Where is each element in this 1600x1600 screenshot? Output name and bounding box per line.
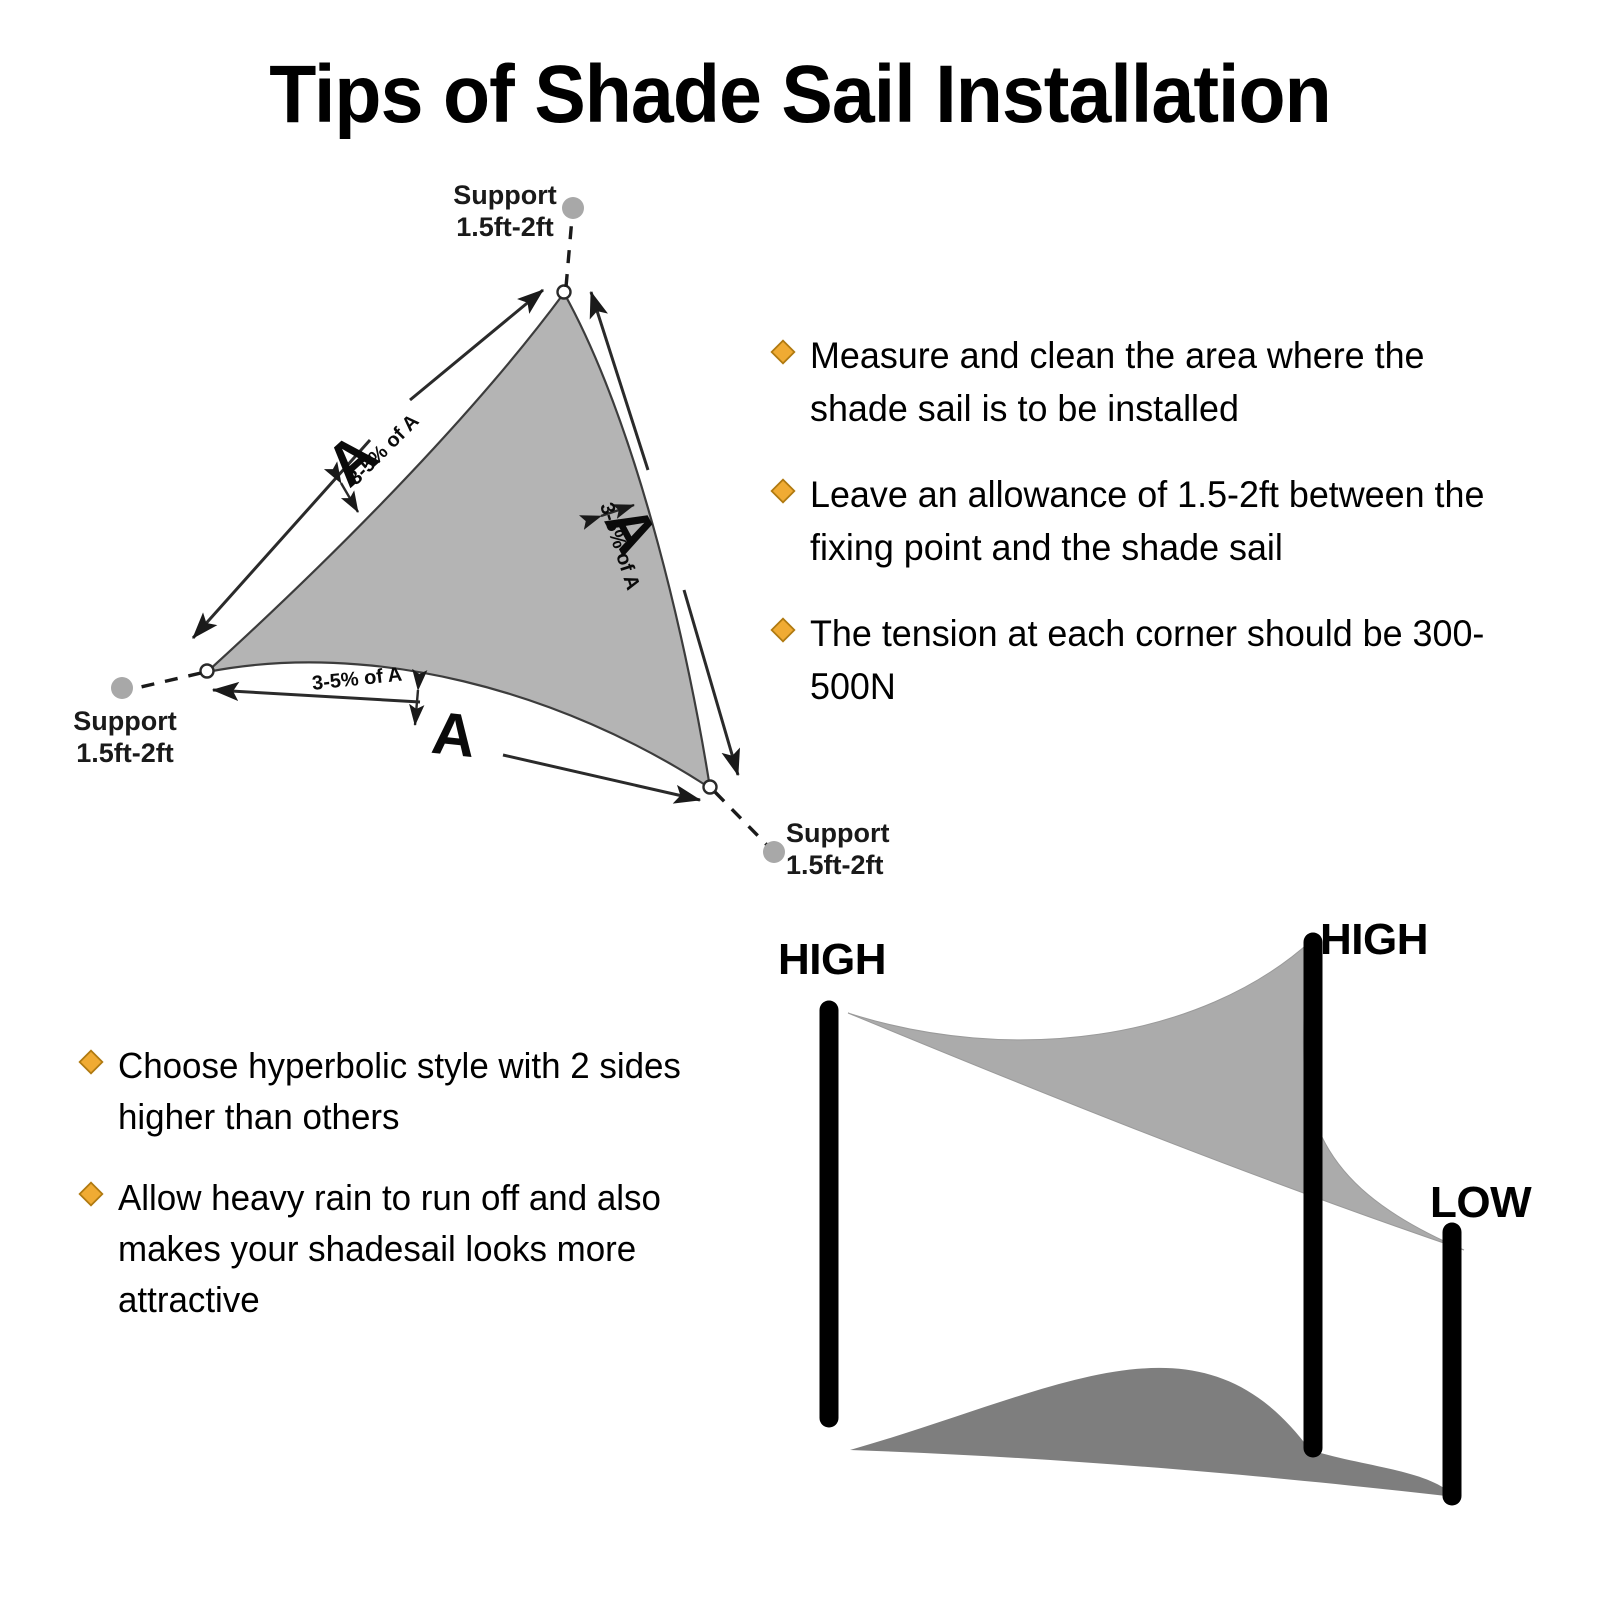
diamond-bullet-icon	[770, 339, 796, 365]
diamond-bullet-icon	[78, 1181, 104, 1207]
support-dot-left	[111, 677, 133, 699]
list-item: Allow heavy rain to run off and also mak…	[78, 1172, 778, 1325]
list-item-text: Choose hyperbolic style with 2 sides hig…	[118, 1040, 758, 1142]
dim-bottom-tol	[415, 690, 418, 725]
list-item: The tension at each corner should be 300…	[770, 608, 1510, 713]
diamond-bullet-icon	[770, 478, 796, 504]
tips-list-bottom: Choose hyperbolic style with 2 sides hig…	[78, 1040, 778, 1356]
sail-shadow	[850, 1368, 1455, 1497]
page-title: Tips of Shade Sail Installation	[48, 52, 1552, 138]
corner-ring-bottom-right	[704, 781, 717, 794]
tips-list-top: Measure and clean the area where the sha…	[770, 330, 1510, 747]
corner-ring-top	[558, 286, 571, 299]
side-tolerance-bottom: 3-5% of A	[311, 664, 403, 696]
diamond-bullet-icon	[78, 1049, 104, 1075]
list-item-text: Measure and clean the area where the sha…	[810, 330, 1489, 435]
dim-right-A2	[684, 590, 738, 775]
list-item-text: Leave an allowance of 1.5-2ft between th…	[810, 469, 1489, 574]
post-label-low: LOW	[1430, 1178, 1531, 1228]
triangle-sail-diagram	[0, 0, 1600, 1600]
support-dash-left	[128, 673, 201, 690]
post-label-high-left: HIGH	[778, 935, 886, 985]
dim-left-A2	[410, 290, 543, 400]
dim-bottom-A2	[503, 755, 700, 800]
support-label-left: Support 1.5ft-2ft	[55, 706, 195, 770]
list-item: Measure and clean the area where the sha…	[770, 330, 1510, 435]
list-item-text: The tension at each corner should be 300…	[810, 608, 1489, 713]
support-dot-bottom-right	[763, 841, 785, 863]
diamond-bullet-icon	[770, 617, 796, 643]
dim-right-A	[591, 292, 648, 470]
support-label-bottom-right: Support 1.5ft-2ft	[786, 818, 936, 882]
hyperbolic-sail-diagram	[0, 0, 1600, 1600]
support-label-top: Support 1.5ft-2ft	[440, 180, 570, 244]
corner-ring-left	[201, 665, 214, 678]
list-item: Leave an allowance of 1.5-2ft between th…	[770, 469, 1510, 574]
support-dash-bottom-right	[715, 792, 767, 845]
list-item-text: Allow heavy rain to run off and also mak…	[118, 1172, 758, 1325]
list-item: Choose hyperbolic style with 2 sides hig…	[78, 1040, 778, 1142]
side-label-bottom-A: A	[429, 698, 479, 771]
post-label-high-right: HIGH	[1320, 915, 1428, 965]
hyperbolic-sail	[848, 940, 1464, 1250]
